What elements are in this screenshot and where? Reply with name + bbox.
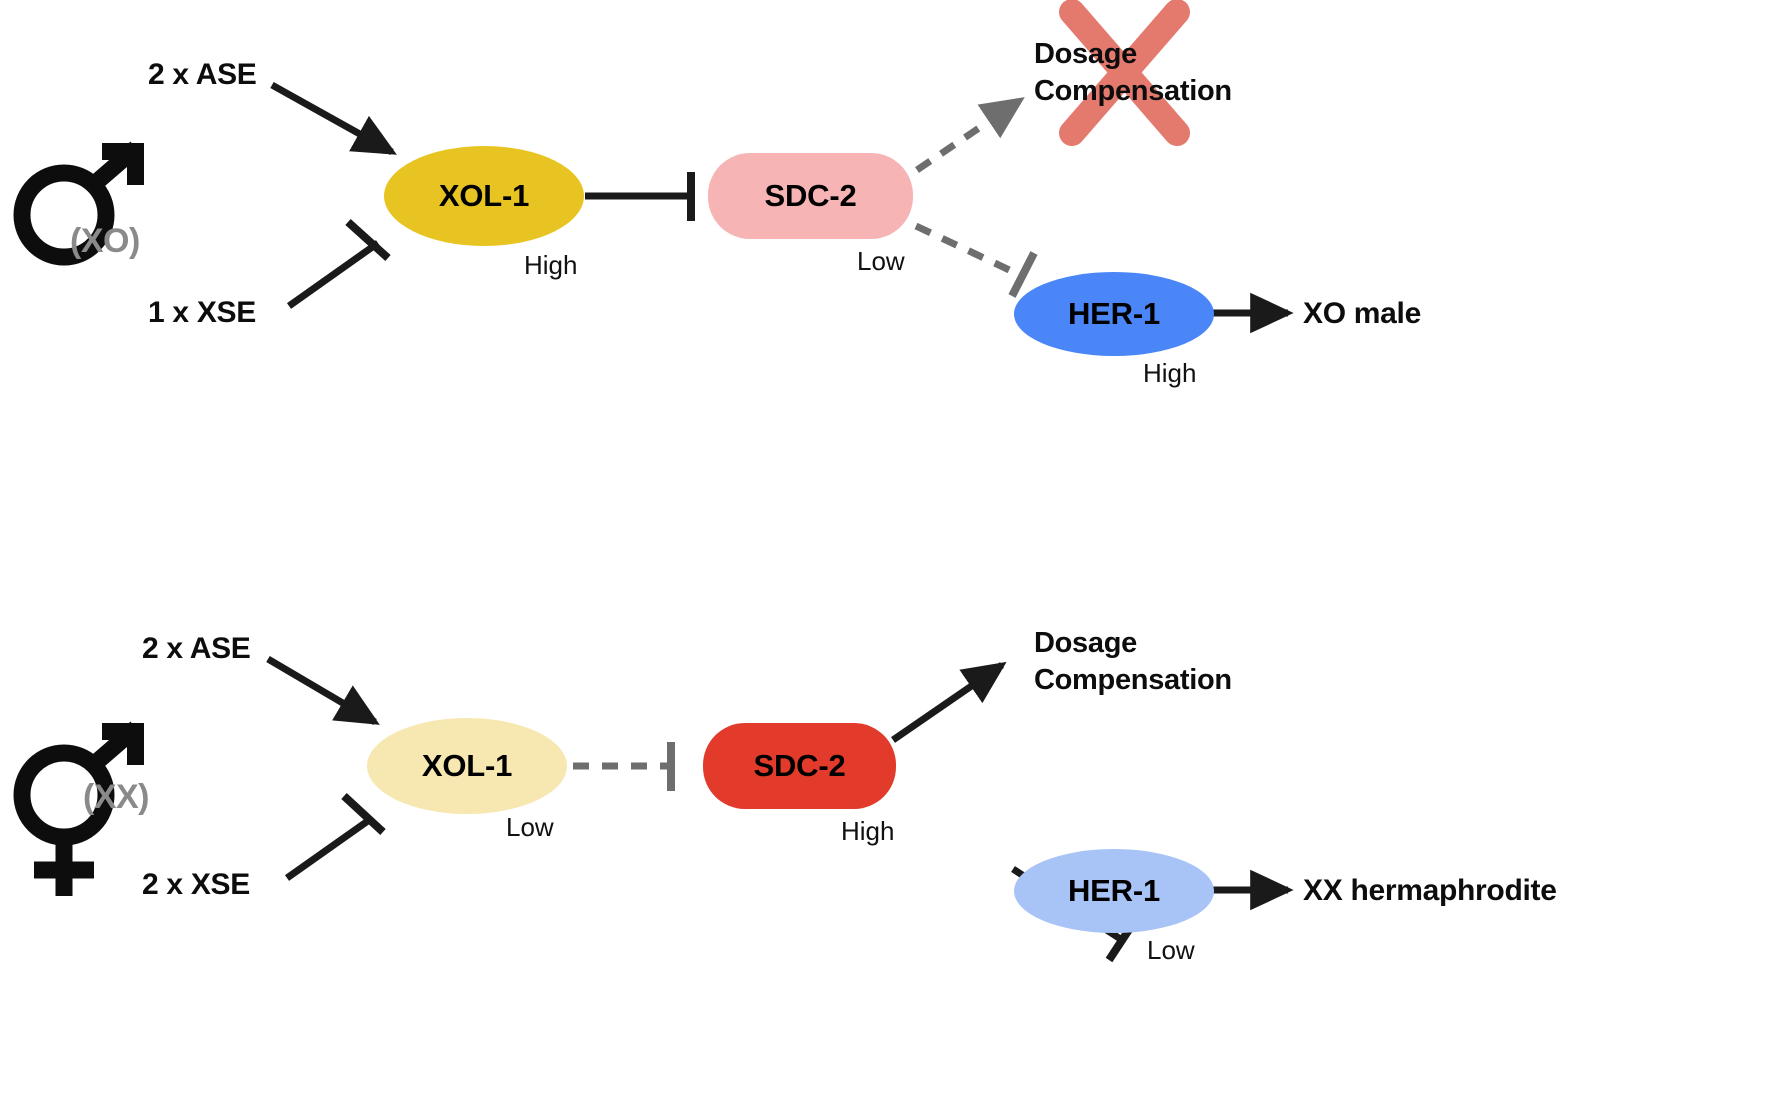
dosage-compensation-label-top: Dosage Compensation [1034, 36, 1294, 110]
node-her1-top[interactable]: HER-1 [1014, 272, 1214, 356]
edge-xse-to-xol1-top [289, 222, 388, 306]
level-label-xol1-bottom: Low [506, 812, 554, 843]
edge-xse-to-xol1-bottom [287, 796, 383, 878]
node-sdc2-bottom[interactable]: SDC-2 [703, 723, 896, 809]
node-sdc2-bottom-label: SDC-2 [753, 748, 845, 784]
node-her1-top-label: HER-1 [1068, 296, 1160, 332]
dosage-compensation-label-bottom: Dosage Compensation [1034, 625, 1294, 699]
node-sdc2-top[interactable]: SDC-2 [708, 153, 913, 239]
node-sdc2-top-label: SDC-2 [764, 178, 856, 214]
dosage-compensation-line1-bottom: Dosage [1034, 625, 1294, 662]
level-label-sdc2-bottom: High [841, 816, 894, 847]
outcome-label-bottom: XX hermaphrodite [1303, 874, 1557, 908]
level-label-sdc2-top: Low [857, 246, 905, 277]
level-label-her1-bottom: Low [1147, 935, 1195, 966]
edge-ase-to-xol1-bottom [268, 659, 375, 722]
outcome-label-top: XO male [1303, 297, 1421, 331]
dosage-compensation-line1-top: Dosage [1034, 36, 1294, 73]
node-her1-bottom-label: HER-1 [1068, 873, 1160, 909]
edge-sdc2-to-dosage-bottom [893, 665, 1002, 740]
dosage-compensation-line2-top: Compensation [1034, 73, 1294, 110]
edge-sdc2-to-dosage-top [917, 101, 1019, 170]
karyotype-label-top: (XO) [70, 222, 140, 261]
edge-xol1-inhibits-sdc2-bottom [573, 742, 671, 791]
edge-xol1-inhibits-sdc2-top [585, 172, 692, 221]
edge-sdc2-inhibits-her1-top [916, 226, 1034, 296]
input-label-xse-bottom: 2 x XSE [142, 868, 250, 902]
level-label-her1-top: High [1143, 358, 1196, 389]
level-label-xol1-top: High [524, 250, 577, 281]
node-xol1-top-label: XOL-1 [439, 178, 529, 214]
karyotype-label-bottom: (XX) [83, 778, 149, 817]
input-label-xse-top: 1 x XSE [148, 296, 256, 330]
input-label-ase-top: 2 x ASE [148, 58, 257, 92]
node-her1-bottom[interactable]: HER-1 [1014, 849, 1214, 933]
node-xol1-bottom[interactable]: XOL-1 [367, 718, 567, 814]
node-xol1-top[interactable]: XOL-1 [384, 146, 584, 246]
diagram-canvas: Dosage Compensation (activation, dashed … [0, 0, 1770, 1100]
input-label-ase-bottom: 2 x ASE [142, 632, 251, 666]
edge-ase-to-xol1-top [272, 85, 392, 152]
dosage-compensation-line2-bottom: Compensation [1034, 662, 1294, 699]
node-xol1-bottom-label: XOL-1 [422, 748, 512, 784]
